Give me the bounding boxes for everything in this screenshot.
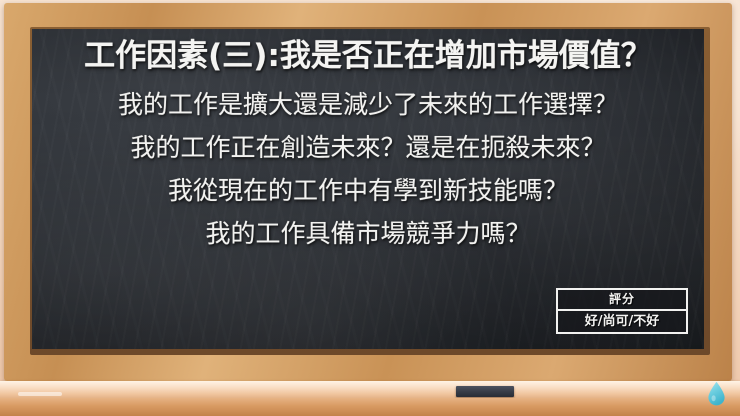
rating-box-options[interactable]: 好/尚可/不好 <box>558 311 686 332</box>
slide-line-2: 我的工作正在創造未來？還是在扼殺未來？ <box>32 135 704 160</box>
water-drop-icon <box>707 381 726 406</box>
chalk-tray-lip <box>0 398 740 416</box>
board-text-block: 工作因素(三):我是否正在增加市場價值？ 我的工作是擴大還是減少了未來的工作選擇… <box>32 29 704 246</box>
slide-canvas: 工作因素(三):我是否正在增加市場價值？ 我的工作是擴大還是減少了未來的工作選擇… <box>0 0 740 416</box>
chalkboard-eraser <box>456 386 514 397</box>
rating-box[interactable]: 評分 好/尚可/不好 <box>556 288 688 334</box>
slide-title: 工作因素(三):我是否正在增加市場價值？ <box>32 38 704 75</box>
rating-box-header: 評分 <box>558 290 686 311</box>
chalk-stick <box>18 392 62 396</box>
slide-line-3: 我從現在的工作中有學到新技能嗎？ <box>32 178 704 203</box>
slide-line-1: 我的工作是擴大還是減少了未來的工作選擇？ <box>32 92 704 117</box>
slide-line-4: 我的工作具備市場競爭力嗎？ <box>32 221 704 246</box>
chalkboard: 工作因素(三):我是否正在增加市場價值？ 我的工作是擴大還是減少了未來的工作選擇… <box>32 29 704 349</box>
